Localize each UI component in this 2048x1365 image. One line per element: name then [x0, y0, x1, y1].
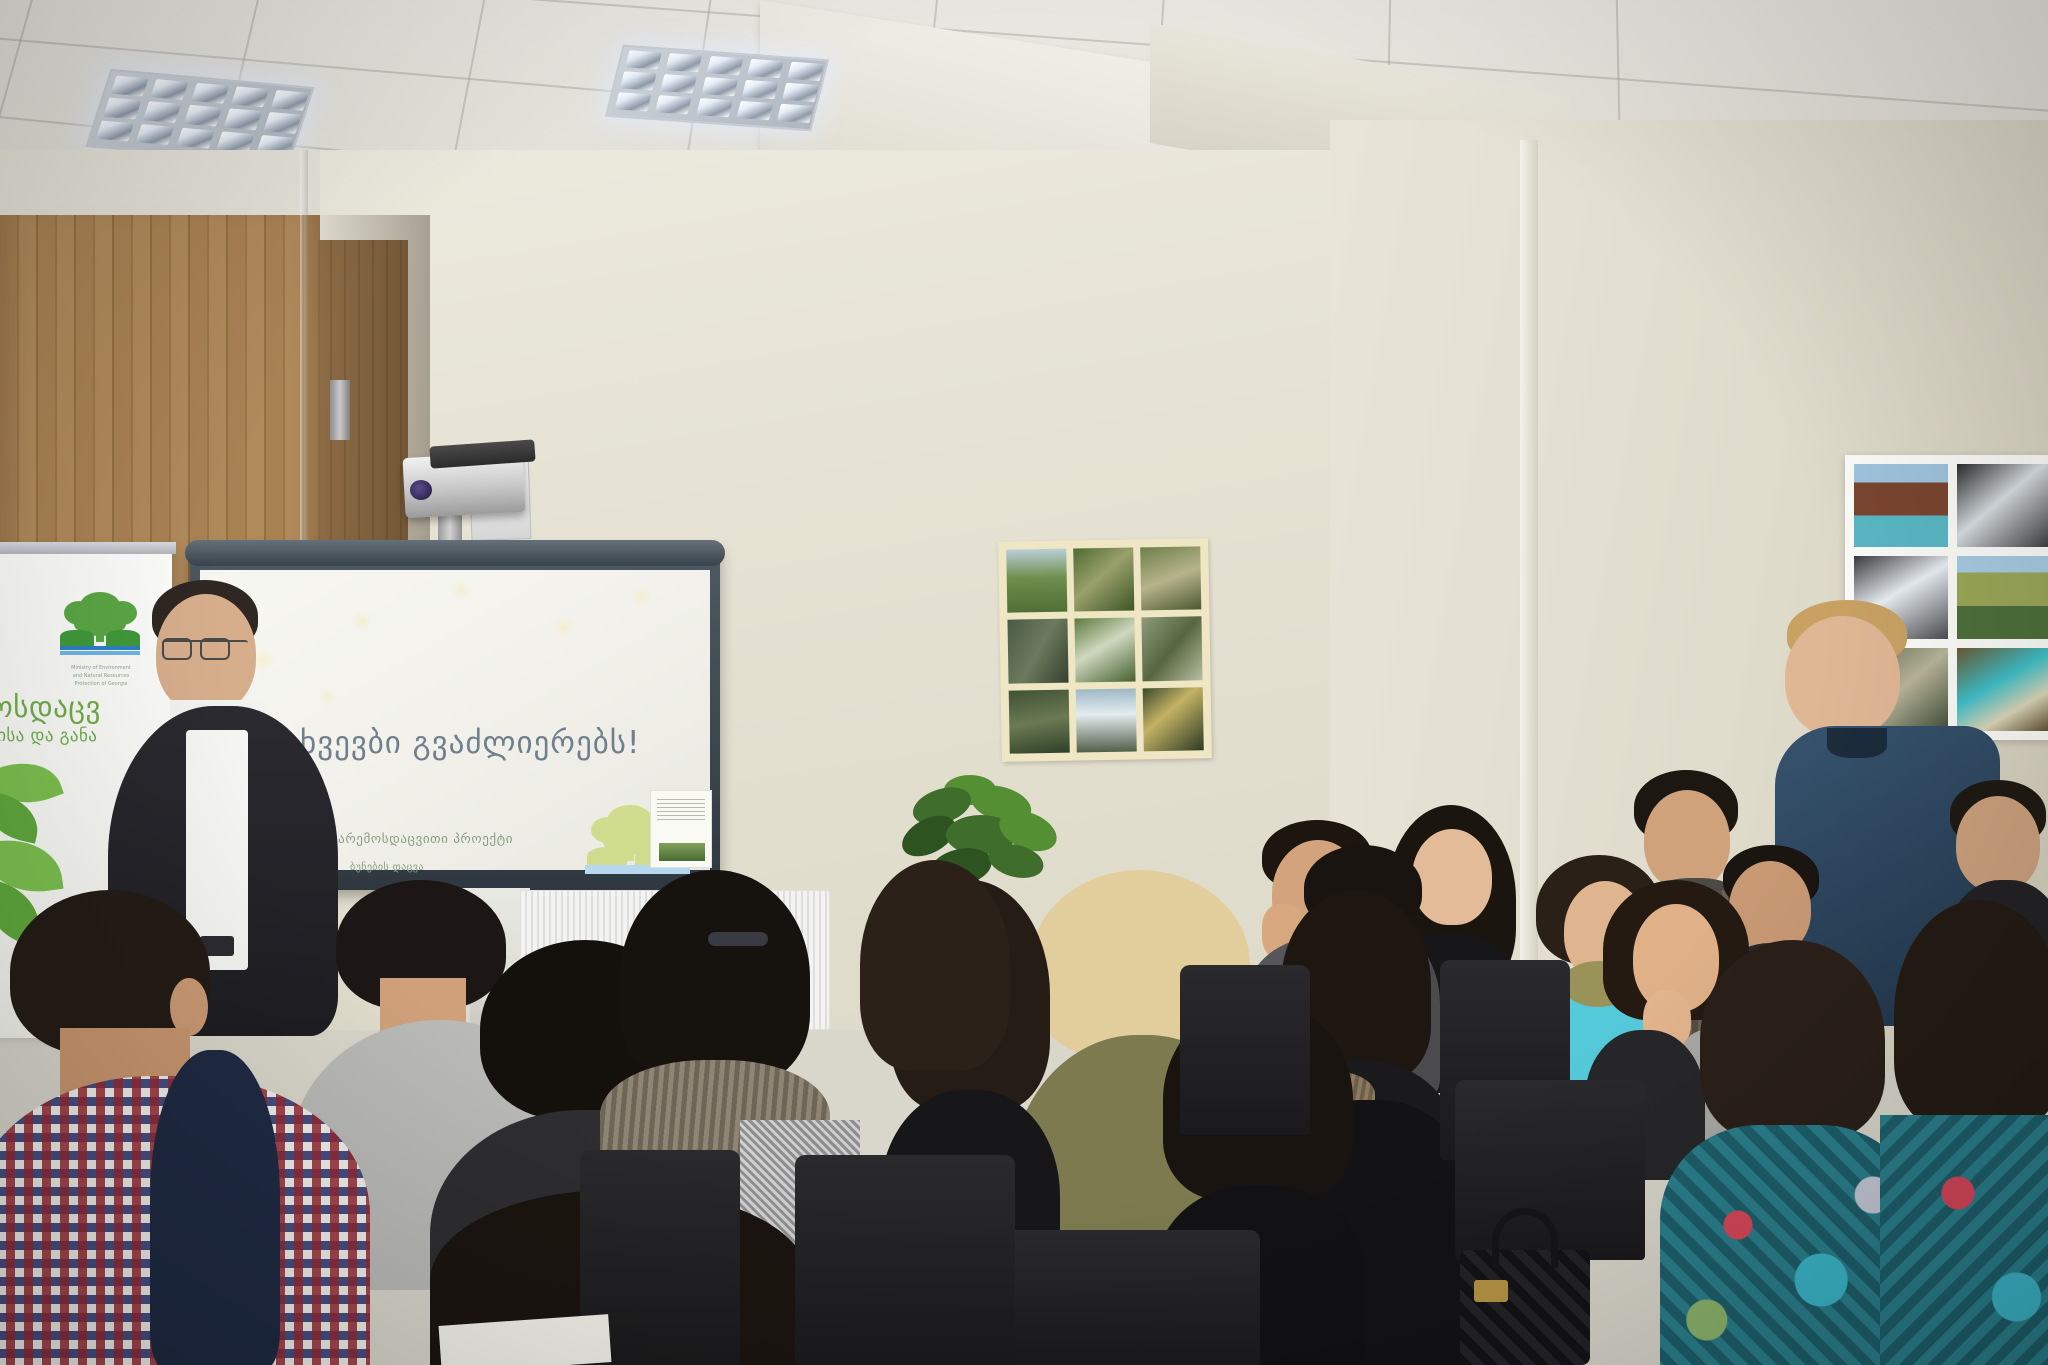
handbag-strap: [1492, 1208, 1558, 1268]
lamp-louver: [742, 80, 779, 99]
rollup-banner-rail: [0, 542, 176, 554]
attendee-patterned-knit: [1880, 1115, 2048, 1365]
handbag-clasp-icon: [1474, 1280, 1508, 1302]
collage-photo-braided-river-delta: [1074, 618, 1135, 682]
lamp-louver: [777, 104, 814, 123]
lamp-louver: [96, 121, 134, 142]
hair-clip-icon: [708, 932, 768, 946]
collage-photo-green-hillside: [1006, 549, 1067, 613]
seminar-room-photo: ხვევბი გვაძლიერებს! გარემოსდაცვითი პროექ…: [0, 0, 2048, 1365]
collage-photo-aerial-crater-lake: [1073, 547, 1134, 611]
lamp-louver: [655, 95, 692, 114]
collage-photo-aerial-geothermal-field: [1143, 687, 1204, 751]
attendee-far-right-woman: [1880, 900, 2048, 1365]
lamp-louver: [231, 86, 269, 107]
lamp-louver: [787, 62, 824, 81]
panel-photo-braided-glacial-river: [1957, 464, 2048, 547]
projector-ceiling-arm: [330, 380, 350, 440]
lamp-louver: [620, 71, 657, 90]
collage-photo-aerial-rocky-ridge: [1140, 546, 1201, 610]
presenter-glasses-lens-right: [200, 638, 230, 660]
attendee-hair: [860, 860, 1010, 1070]
attendee-navy-left: [150, 1050, 280, 1365]
panel-photo-red-rock-lagoon: [1854, 464, 1948, 547]
poster-on-whiteboard: [650, 790, 712, 868]
standing-attendee-head: [1785, 616, 1900, 738]
lamp-louver: [661, 74, 698, 93]
attendee-torso: [150, 1050, 280, 1365]
lamp-louver: [143, 102, 181, 123]
lamp-louver: [625, 51, 662, 70]
lamp-louver: [103, 98, 141, 119]
attendee-hair: [1700, 940, 1885, 1140]
lamp-louver: [191, 82, 229, 103]
lamp-louver: [111, 75, 149, 96]
lamp-louver: [747, 59, 784, 78]
poster-text-lines: [657, 799, 705, 821]
lamp-louver: [706, 56, 743, 75]
ceiling-light-panel: [605, 45, 829, 132]
lamp-louver: [264, 112, 302, 133]
conference-chair[interactable]: [795, 1155, 1015, 1365]
standing-attendee-collar: [1827, 728, 1887, 758]
lamp-louver: [271, 90, 309, 111]
poster-thumbnail: [659, 843, 705, 861]
projector-lens-icon: [410, 480, 432, 500]
lamp-louver: [666, 54, 703, 73]
lamp-louver: [224, 109, 262, 130]
collage-photo-waterfall-mist: [1076, 688, 1137, 752]
conference-chair[interactable]: [1180, 965, 1310, 1135]
lamp-louver: [151, 79, 189, 100]
lamp-louver: [696, 98, 733, 117]
slide-headline: ხვევბი გვაძლიერებს!: [300, 725, 770, 761]
lamp-louver: [736, 101, 773, 120]
slide-footnote: ბუნების დაცვა: [350, 862, 590, 873]
nature-photo-collage: [998, 538, 1212, 762]
lamp-louver: [136, 124, 174, 145]
collage-photo-rocky-mountain-slope: [1141, 617, 1202, 681]
presenter-glasses-lens-left: [162, 638, 192, 660]
handbag[interactable]: [1460, 1250, 1590, 1365]
attendee-head: [1956, 796, 2040, 892]
whiteboard-top-rail: [185, 540, 725, 566]
collage-photo-dense-forest-canopy: [1007, 619, 1068, 683]
lamp-louver: [701, 77, 738, 96]
lamp-louver: [176, 128, 214, 149]
collage-photo-forested-valley: [1009, 689, 1070, 753]
lamp-louver: [184, 105, 222, 126]
lamp-louver: [782, 83, 819, 102]
attendee-hair-updo: [620, 870, 810, 1085]
attendee-hair: [1894, 900, 2048, 1130]
lamp-louver: [615, 92, 652, 111]
conference-chair[interactable]: [1000, 1230, 1260, 1365]
